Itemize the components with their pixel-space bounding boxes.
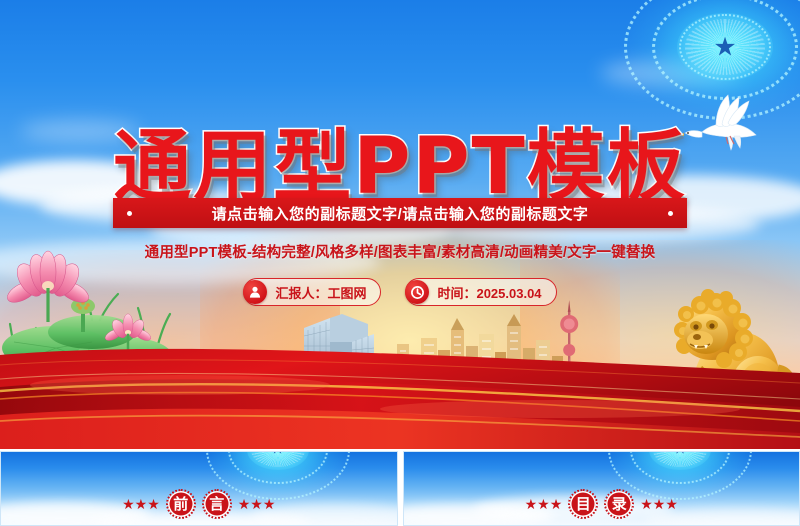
preface-seal-row: ★★★ 前 言 ★★★ <box>1 489 397 519</box>
stars-left: ★★★ <box>122 497 160 511</box>
seal-character: 前 <box>173 497 188 512</box>
red-silk-ribbon <box>0 329 800 449</box>
bottom-panel-row: ★ ★★★ 前 言 ★★★ <box>0 451 800 526</box>
main-banner: ★ <box>0 0 800 449</box>
clock-icon <box>405 280 429 304</box>
description-text: 通用型PPT模板-结构完整/风格多样/图表丰富/素材高清/动画精美/文字一键替换 <box>0 241 800 262</box>
slide-canvas: ★ <box>0 0 800 526</box>
subtitle-text: 请点击输入您的副标题文字/请点击输入您的副标题文字 <box>132 203 668 224</box>
seal-character: 言 <box>209 497 224 512</box>
bullet-dot-icon <box>668 211 673 216</box>
stars-right: ★★★ <box>640 497 678 511</box>
seal-stamp: 目 <box>568 489 598 519</box>
star-icon: ★ <box>713 33 736 59</box>
seal-stamp: 前 <box>166 489 196 519</box>
stars-left: ★★★ <box>525 497 563 511</box>
panel-contents[interactable]: ★ ★★★ 目 录 ★★★ <box>403 451 800 526</box>
user-icon <box>243 280 267 304</box>
star-icon: ★ <box>673 451 687 458</box>
seal-stamp: 录 <box>604 489 634 519</box>
presenter-badge: 汇报人：工图网 <box>243 278 381 306</box>
date-label: 时间：2025.03.04 <box>437 283 541 302</box>
contents-seal-row: ★★★ 目 录 ★★★ <box>404 489 800 519</box>
seal-stamp: 言 <box>202 489 232 519</box>
seal-character: 录 <box>612 497 627 512</box>
date-badge: 时间：2025.03.04 <box>405 278 556 306</box>
presenter-label: 汇报人：工图网 <box>275 283 366 302</box>
stars-right: ★★★ <box>238 497 276 511</box>
panel-preface[interactable]: ★ ★★★ 前 言 ★★★ <box>0 451 398 526</box>
star-icon: ★ <box>270 451 284 458</box>
meta-row: 汇报人：工图网 时间：2025.03.04 <box>0 278 800 306</box>
subtitle-bar: 请点击输入您的副标题文字/请点击输入您的副标题文字 <box>113 198 687 228</box>
seal-character: 目 <box>576 497 591 512</box>
cloud-wisp <box>600 60 740 86</box>
